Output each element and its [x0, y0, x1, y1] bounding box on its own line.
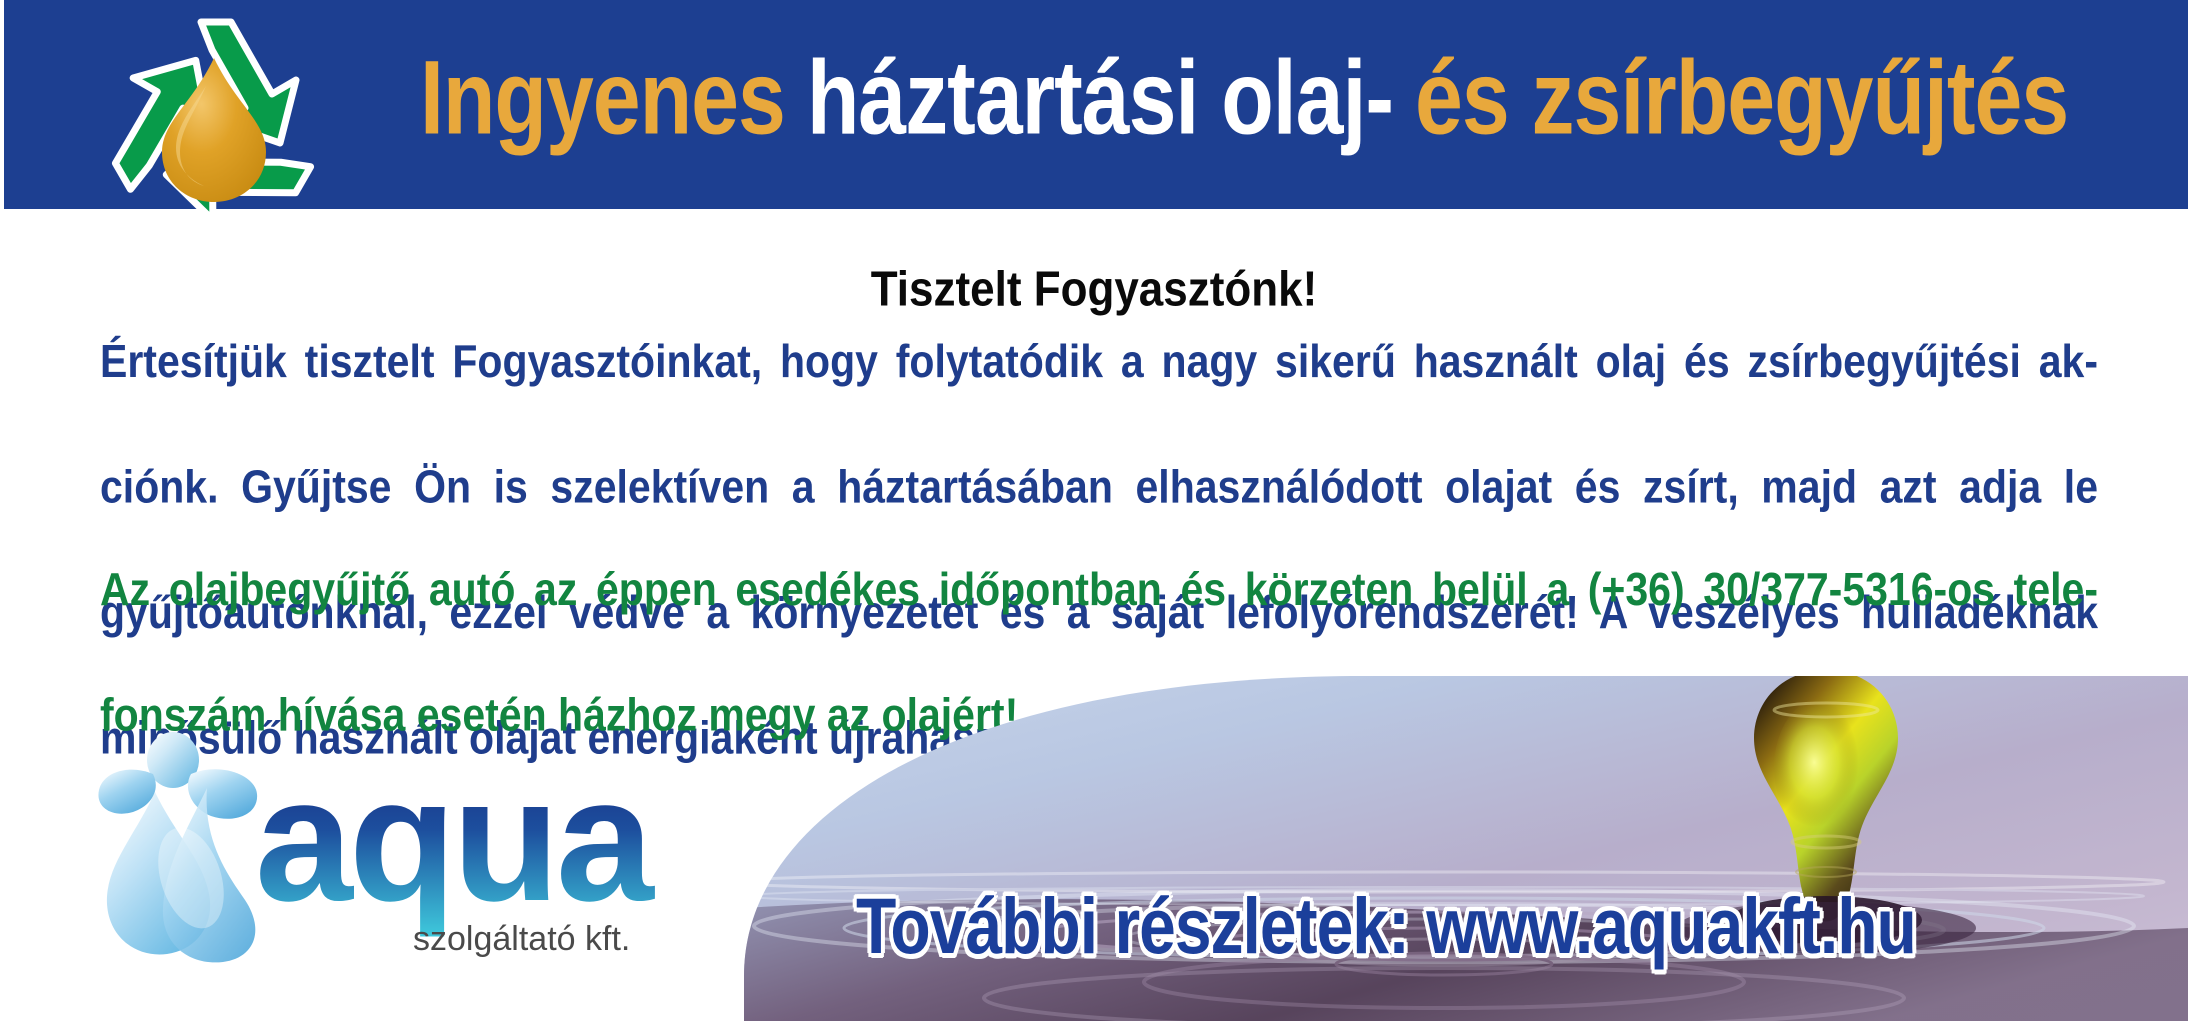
page-title-part-3: és zsírbegyűjtés [1415, 46, 2068, 151]
page-title-part-2: háztartási olaj- [807, 46, 1393, 151]
salutation-heading: Tisztelt Fogyasztónk! [0, 262, 2188, 318]
aqua-tagline: szolgáltató kft. [413, 920, 630, 958]
paragraph-line: Az olajbegyűjtő autó az éppen esedékes i… [100, 558, 2098, 683]
flyer-root: Ingyenes háztartási olaj- és zsírbegyűjt… [0, 0, 2188, 1021]
aqua-wordmark: aqua [255, 742, 655, 938]
water-droplets-icon [98, 732, 257, 962]
aqua-company-logo: aqua szolgáltató kft. [95, 718, 655, 968]
page-title-part-1: Ingyenes [420, 46, 785, 151]
recycle-oil-drop-icon [80, 8, 348, 258]
paragraph-line: Értesítjük tisztelt Fogyasztóinkat, hogy… [100, 330, 2098, 455]
website-caption: További részletek: www.aquakft.hu [856, 880, 2156, 971]
page-title: Ingyenes háztartási olaj- és zsírbegyűjt… [420, 25, 2100, 171]
